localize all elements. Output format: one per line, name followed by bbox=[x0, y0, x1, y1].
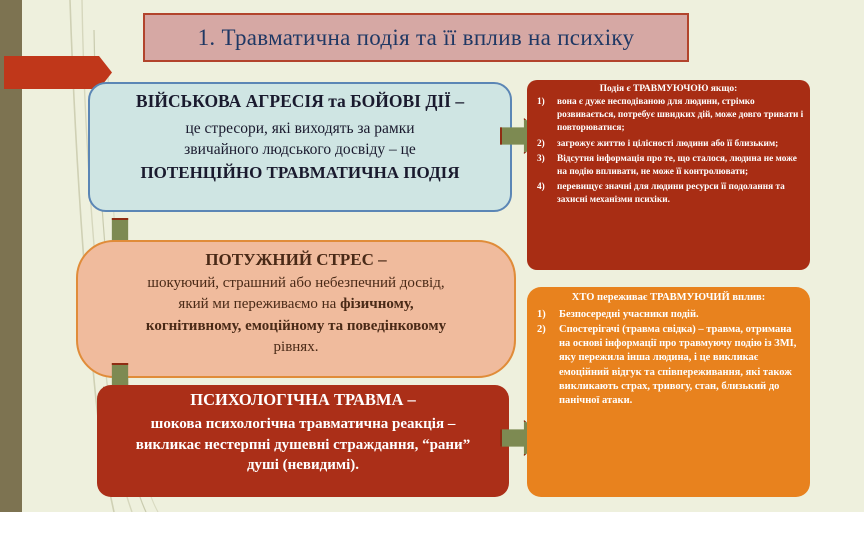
box-aggression-footer: ПОТЕНЦІЙНО ТРАВМАТИЧНА ПОДІЯ bbox=[100, 163, 500, 183]
box-trauma-body-line1: шокова психологічна травматична реакція … bbox=[109, 414, 497, 435]
box-stress-body-line1: шокуючий, страшний або небезпечний досві… bbox=[90, 273, 502, 294]
box-stress-body-line2-plain: який ми переживаємо на bbox=[178, 296, 340, 312]
box-aggression-body-line2: звичайного людського досвіду – це bbox=[100, 139, 500, 160]
box-who-list: 1)Безпосередні учасники подій. 2)Спостер… bbox=[533, 308, 804, 409]
box-powerful-stress: ПОТУЖНИЙ СТРЕС – шокуючий, страшний або … bbox=[76, 240, 516, 378]
list-item: 3)Відсутня інформація про те, що сталося… bbox=[533, 153, 804, 179]
list-item-number: 3) bbox=[537, 153, 545, 166]
box-stress-body-line3-text: когнітивному, емоційному та поведінковом… bbox=[146, 318, 446, 334]
list-item-text: Відсутня інформація про те, що сталося, … bbox=[557, 154, 797, 177]
box-who-experiences-trauma: ХТО переживає ТРАВМУЮЧИЙ вплив: 1)Безпос… bbox=[527, 287, 810, 497]
box-stress-body-line2-bold: фізичному, bbox=[340, 296, 414, 312]
box-stress-body-line3: когнітивному, емоційному та поведінковом… bbox=[90, 316, 502, 337]
list-item-number: 2) bbox=[537, 138, 545, 151]
box-stress-body-line2: який ми переживаємо на фізичному, bbox=[90, 294, 502, 315]
list-item: 1)Безпосередні учасники подій. bbox=[533, 308, 804, 322]
box-criteria-list: 1)вона є дуже несподіваною для людини, с… bbox=[533, 96, 804, 208]
list-item-text: вона є дуже несподіваною для людини, стр… bbox=[557, 97, 803, 133]
box-traumatic-criteria: Подія є ТРАВМУЮЧОЮ якщо: 1)вона є дуже н… bbox=[527, 80, 810, 270]
list-item: 2)Спостерігачі (травма свідка) – травма,… bbox=[533, 323, 804, 409]
box-trauma-body-line3: душі (невидимі). bbox=[109, 455, 497, 476]
box-stress-heading: ПОТУЖНИЙ СТРЕС – bbox=[90, 250, 502, 270]
list-item: 4)перевищує значні для людини ресурси її… bbox=[533, 181, 804, 207]
box-trauma-body-line2: викликає нестерпні душевні страждання, “… bbox=[109, 435, 497, 456]
box-psychological-trauma: ПСИХОЛОГІЧНА ТРАВМА – шокова психологічн… bbox=[97, 385, 509, 497]
list-item: 2)загрожує життю і цілісності людини або… bbox=[533, 138, 804, 151]
list-item-number: 1) bbox=[537, 96, 545, 109]
box-who-heading: ХТО переживає ТРАВМУЮЧИЙ вплив: bbox=[533, 291, 804, 305]
box-criteria-heading: Подія є ТРАВМУЮЧОЮ якщо: bbox=[533, 84, 804, 94]
list-item: 1)вона є дуже несподіваною для людини, с… bbox=[533, 96, 804, 136]
list-item-text: Безпосередні учасники подій. bbox=[559, 309, 699, 320]
slide-title-bar: 1. Травматична подія та її вплив на псих… bbox=[143, 13, 689, 62]
box-aggression-body-line1: це стресори, які виходять за рамки bbox=[100, 118, 500, 139]
box-aggression-heading: ВІЙСЬКОВА АГРЕСІЯ та БОЙОВІ ДІЇ – bbox=[100, 91, 500, 113]
list-item-number: 2) bbox=[537, 323, 546, 337]
box-military-aggression: ВІЙСЬКОВА АГРЕСІЯ та БОЙОВІ ДІЇ – це стр… bbox=[88, 82, 512, 212]
list-item-text: перевищує значні для людини ресурси її п… bbox=[557, 182, 785, 205]
slide-canvas: 1. Травматична подія та її вплив на псих… bbox=[0, 0, 864, 512]
box-stress-body-line4: рівнях. bbox=[90, 337, 502, 358]
box-trauma-heading: ПСИХОЛОГІЧНА ТРАВМА – bbox=[109, 390, 497, 410]
page-title: 1. Травматична подія та її вплив на псих… bbox=[198, 25, 635, 51]
list-item-number: 1) bbox=[537, 308, 546, 322]
list-item-text: загрожує життю і цілісності людини або ї… bbox=[557, 139, 778, 149]
list-item-text: Спостерігачі (травма свідка) – травма, о… bbox=[559, 324, 796, 406]
list-item-number: 4) bbox=[537, 181, 545, 194]
